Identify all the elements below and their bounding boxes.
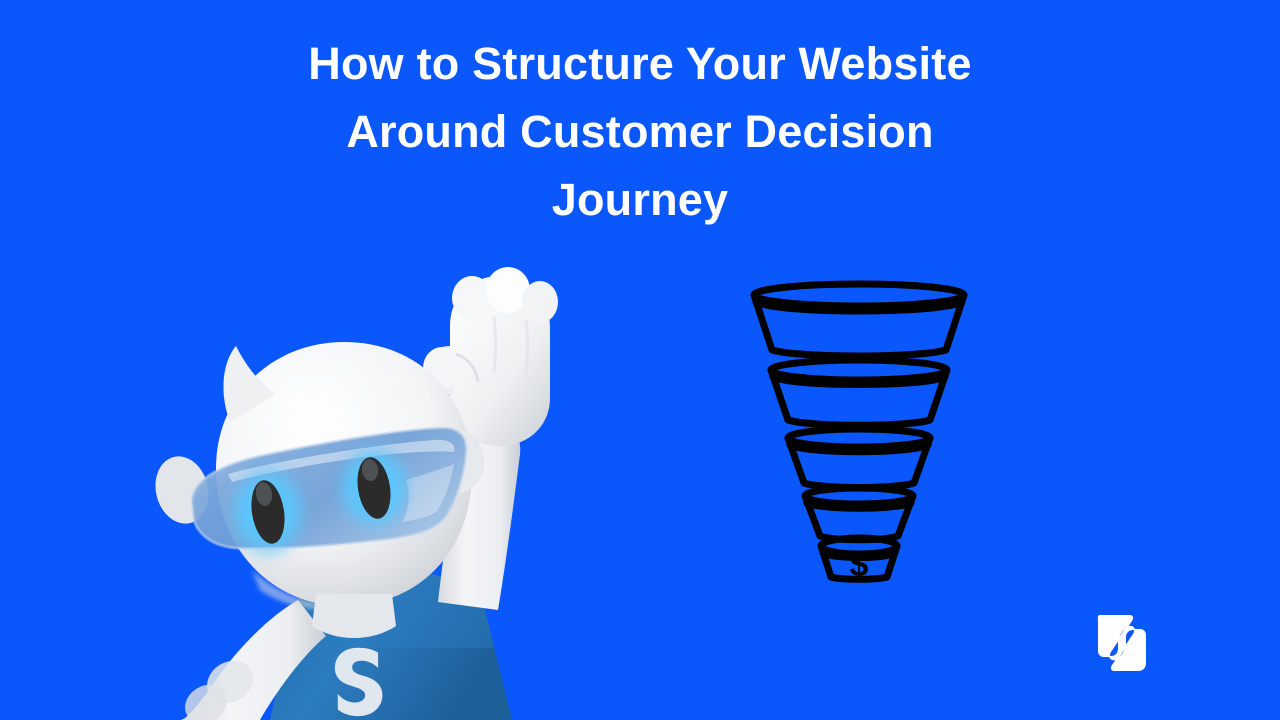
title-line-1: How to Structure Your Website (250, 30, 1030, 98)
title-line-3: Journey (250, 166, 1030, 234)
sales-funnel-icon: $ (744, 278, 974, 583)
funnel-dollar-symbol: $ (850, 546, 869, 583)
funnel-segment-1 (754, 284, 964, 356)
banner-canvas: $ How to Structure Your Website Around C… (0, 0, 1280, 720)
title-line-2: Around Customer Decision (250, 98, 1030, 166)
robot-mascot-illustration (120, 250, 640, 720)
funnel-segment-3 (788, 429, 930, 488)
page-title: How to Structure Your Website Around Cus… (250, 30, 1030, 234)
funnel-segment-4 (805, 488, 913, 540)
funnel-segment-2 (771, 360, 947, 425)
brand-logo-icon (1086, 607, 1158, 679)
